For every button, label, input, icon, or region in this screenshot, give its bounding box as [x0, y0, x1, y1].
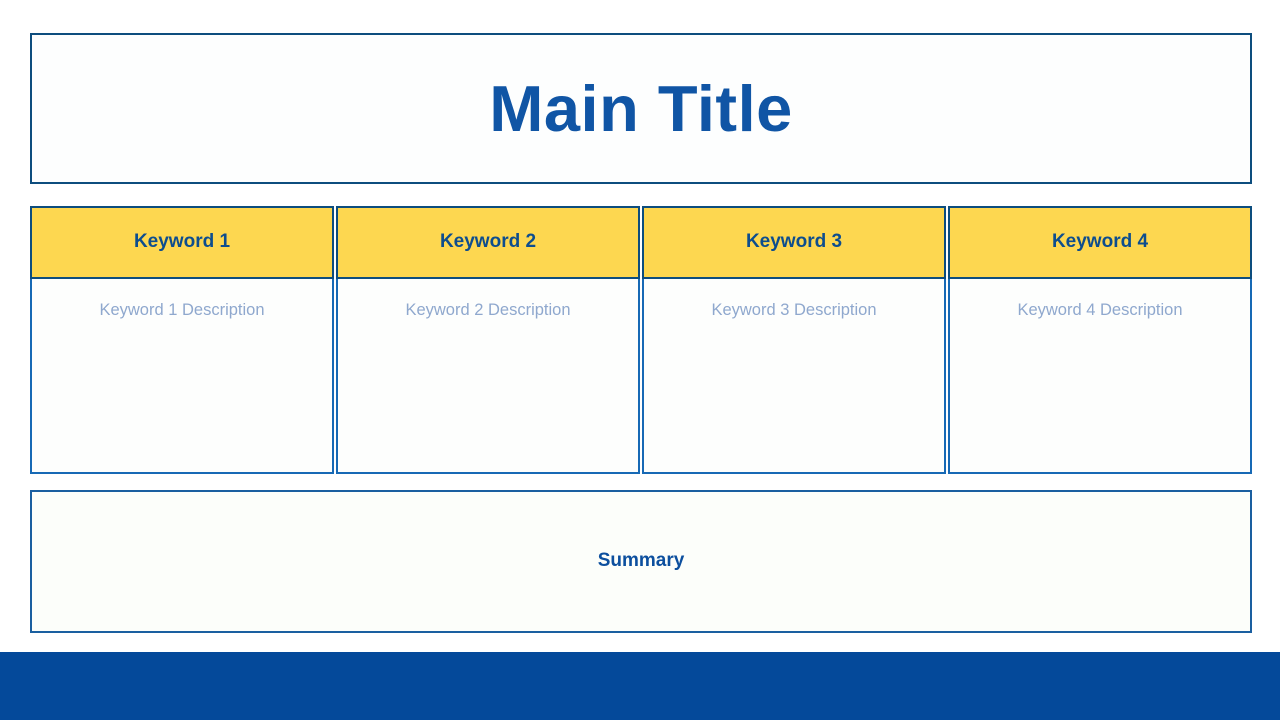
slide-canvas: Main Title Keyword 1 Keyword 1 Descripti… — [0, 0, 1280, 720]
keyword-body-cell[interactable]: Keyword 2 Description — [336, 279, 640, 474]
keyword-description-text: Keyword 3 Description — [703, 299, 884, 321]
keyword-description-text: Keyword 1 Description — [91, 299, 272, 321]
keyword-header-label: Keyword 3 — [746, 231, 842, 254]
keyword-description-text: Keyword 4 Description — [1009, 299, 1190, 321]
keyword-column[interactable]: Keyword 4 Keyword 4 Description — [948, 206, 1252, 474]
bottom-accent-bar — [0, 652, 1280, 720]
keyword-column[interactable]: Keyword 2 Keyword 2 Description — [336, 206, 640, 474]
summary-placeholder[interactable]: Summary — [30, 490, 1252, 633]
keyword-header-cell[interactable]: Keyword 3 — [642, 206, 946, 279]
keyword-header-cell[interactable]: Keyword 2 — [336, 206, 640, 279]
keyword-header-cell[interactable]: Keyword 4 — [948, 206, 1252, 279]
keyword-columns: Keyword 1 Keyword 1 Description Keyword … — [30, 206, 1252, 474]
keyword-header-cell[interactable]: Keyword 1 — [30, 206, 334, 279]
keyword-header-label: Keyword 2 — [440, 231, 536, 254]
summary-label: Summary — [598, 549, 685, 574]
keyword-description-text: Keyword 2 Description — [397, 299, 578, 321]
keyword-body-cell[interactable]: Keyword 1 Description — [30, 279, 334, 474]
keyword-body-cell[interactable]: Keyword 4 Description — [948, 279, 1252, 474]
keyword-column[interactable]: Keyword 1 Keyword 1 Description — [30, 206, 334, 474]
title-placeholder[interactable]: Main Title — [30, 33, 1252, 184]
keyword-header-label: Keyword 4 — [1052, 231, 1148, 254]
keyword-column[interactable]: Keyword 3 Keyword 3 Description — [642, 206, 946, 474]
keyword-header-label: Keyword 1 — [134, 231, 230, 254]
page-title: Main Title — [489, 76, 793, 141]
keyword-body-cell[interactable]: Keyword 3 Description — [642, 279, 946, 474]
